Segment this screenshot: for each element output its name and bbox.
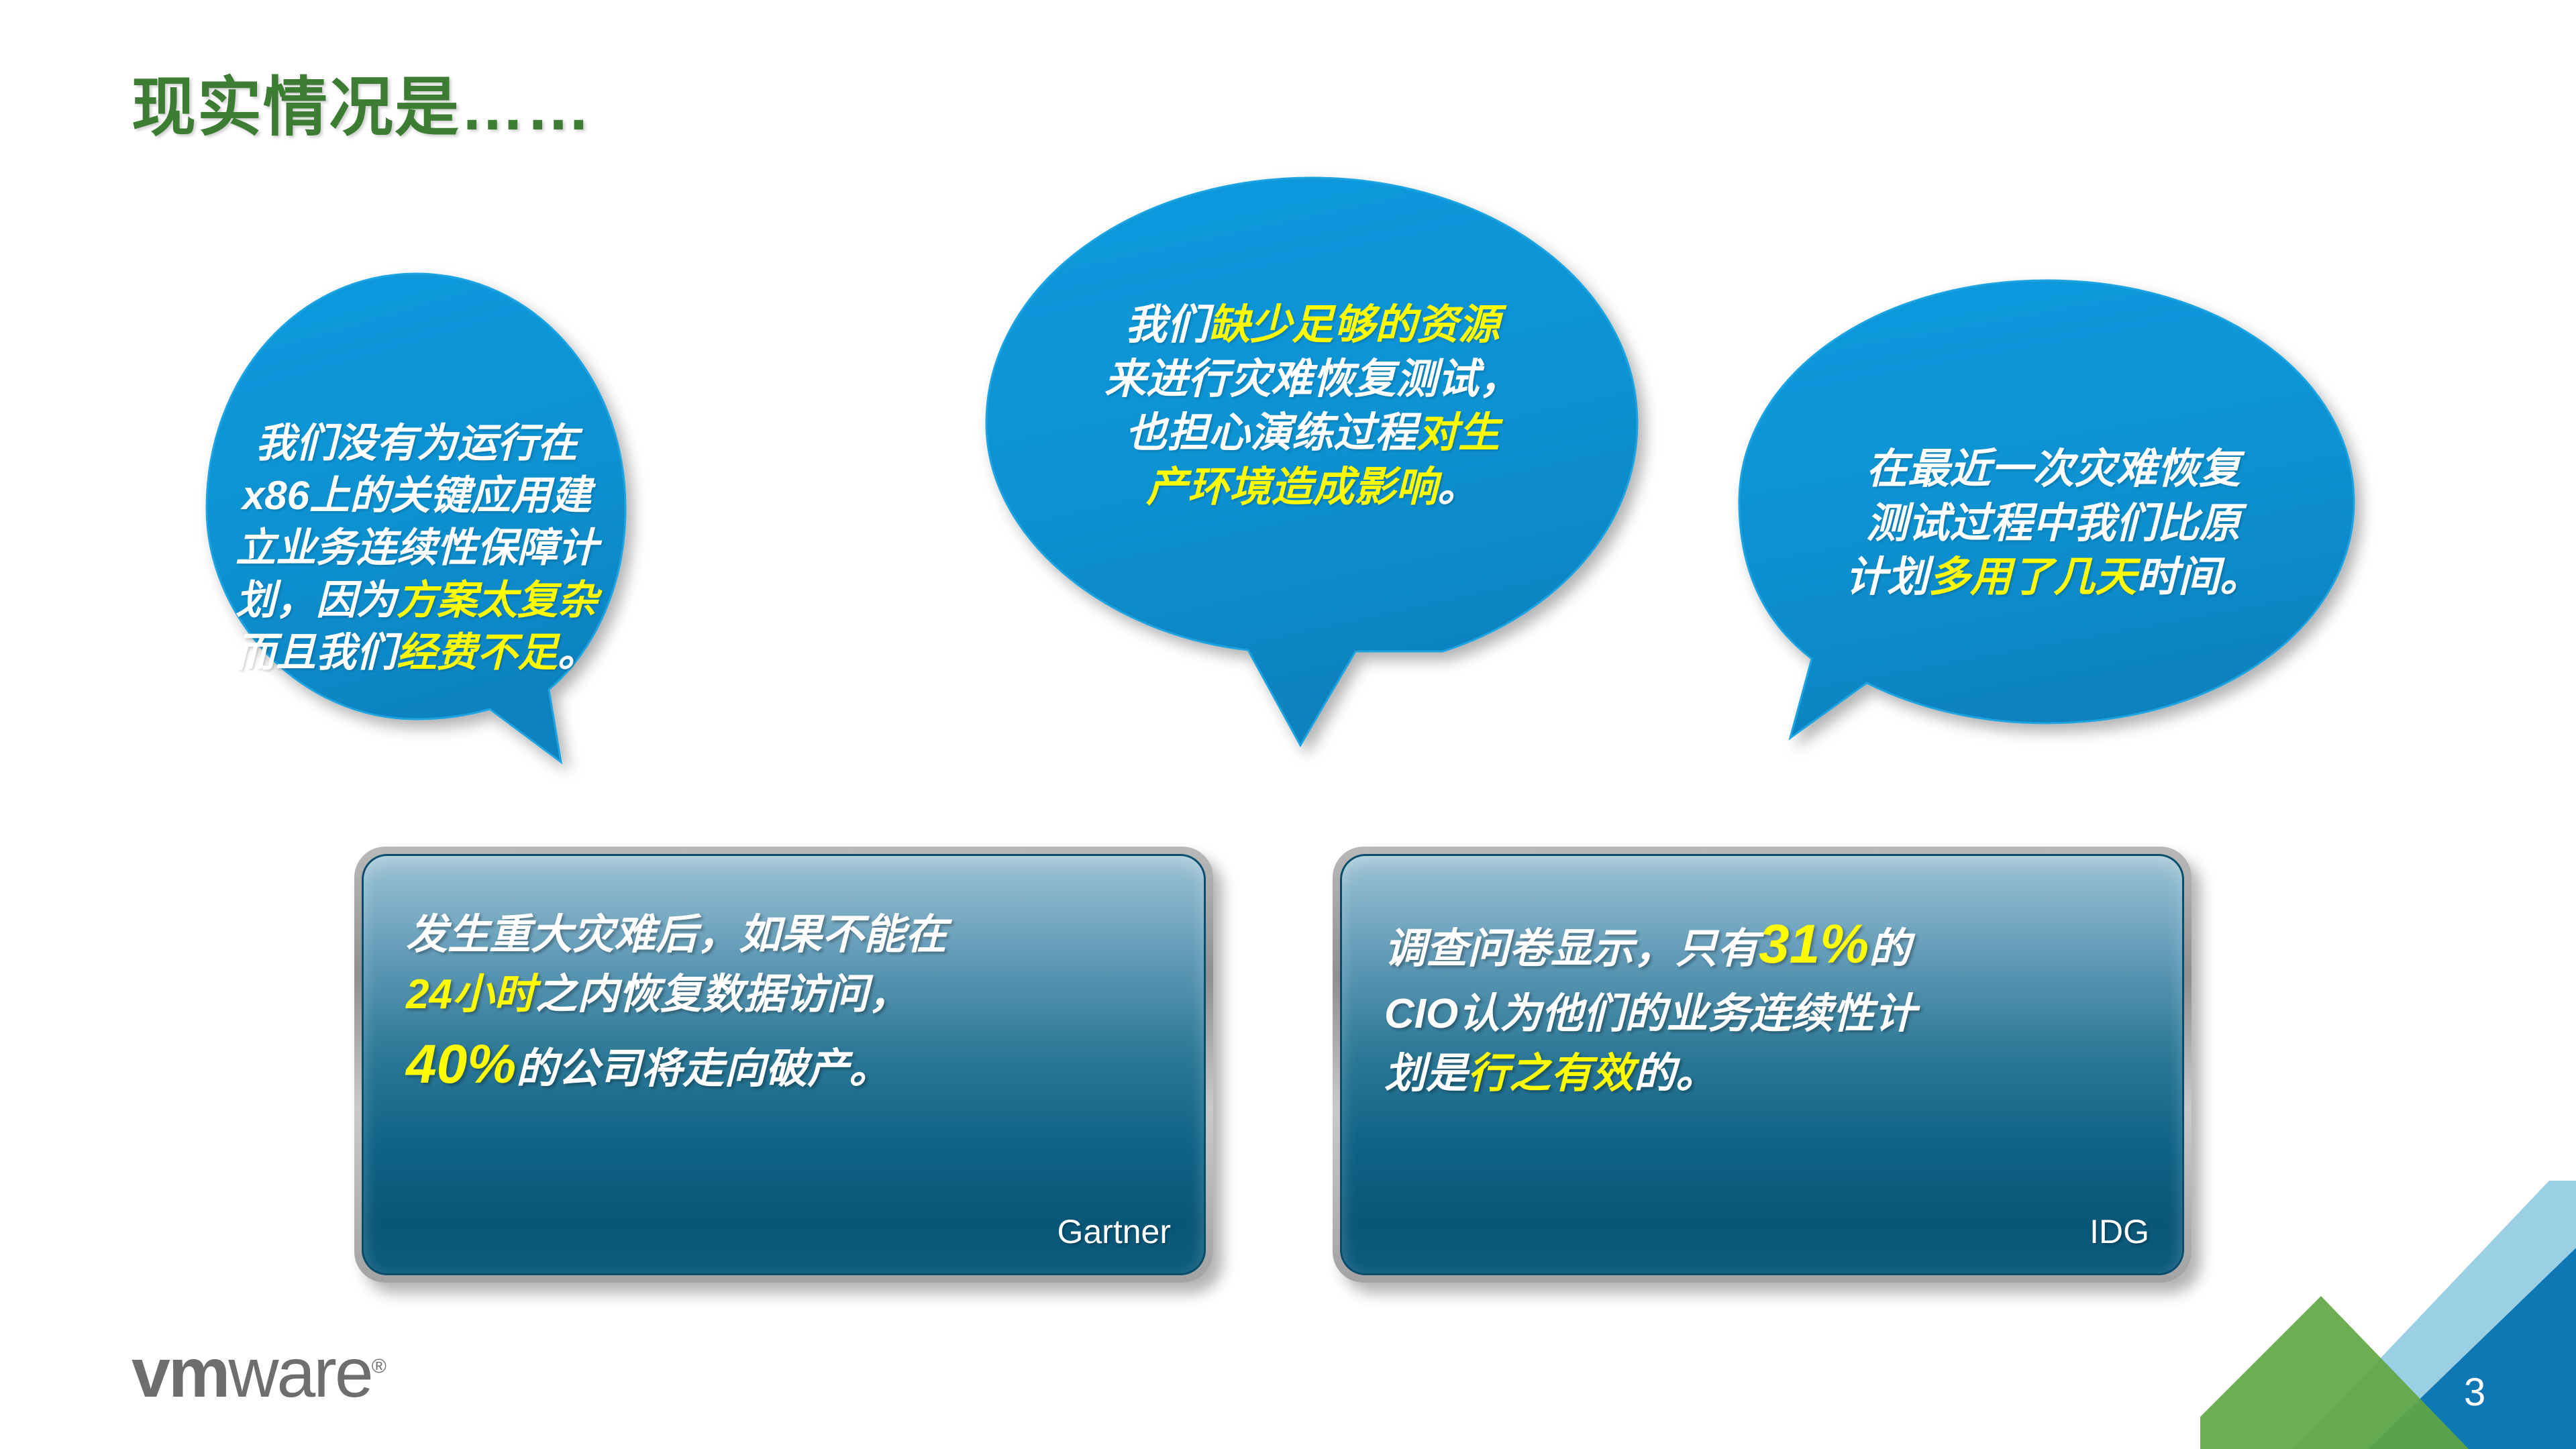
card-1-seg-1: 24小时 [406, 971, 535, 1018]
stat-card-idg: 调查问卷显示，只有31%的 CIO认为他们的业务连续性计 划是行之有效的。 ID… [1333, 847, 2192, 1283]
card-2-seg-1: 31% [1759, 914, 1869, 975]
bubble-1-seg-2: 而且我们 [236, 630, 397, 675]
card-1-seg-3: 40% [406, 1034, 516, 1095]
page-title: 现实情况是…… [132, 72, 592, 144]
bubble-1-text: 我们没有为运行在 x86上的关键应用建 立业务连续性保障计 划，因为方案太复杂 … [234, 417, 600, 679]
speech-bubble-complexity-budget: 我们没有为运行在 x86上的关键应用建 立业务连续性保障计 划，因为方案太复杂 … [201, 268, 631, 778]
bubble-3-seg-1: 多用了几天 [1928, 554, 2136, 600]
stat-card-idg-source: IDG [2090, 1212, 2149, 1251]
card-2-seg-4: 的。 [1634, 1051, 1717, 1097]
bubble-2-text: 我们缺少足够的资源 来进行灾难恢复测试， 也担心演练过程对生 产环境造成影响。 [1044, 299, 1581, 515]
bubble-3-seg-2: 时间。 [2136, 554, 2261, 600]
bubble-1-seg-3: 经费不足 [397, 630, 558, 675]
stat-card-gartner-inner: 发生重大灾难后，如果不能在 24小时之内恢复数据访问， 40%的公司将走向破产。… [362, 854, 1206, 1275]
card-1-seg-4: 的公司将走向破产。 [516, 1046, 890, 1092]
stat-card-gartner-text: 发生重大灾难后，如果不能在 24小时之内恢复数据访问， 40%的公司将走向破产。 [406, 905, 1179, 1104]
stat-card-idg-text: 调查问卷显示，只有31%的 CIO认为他们的业务连续性计 划是行之有效的。 [1384, 905, 2157, 1104]
card-1-seg-2: 之内恢复数据访问， [535, 971, 910, 1018]
stat-card-idg-inner: 调查问卷显示，只有31%的 CIO认为他们的业务连续性计 划是行之有效的。 ID… [1340, 854, 2184, 1275]
registered-trademark-icon: ® [372, 1355, 387, 1377]
corner-decoration [2200, 1181, 2576, 1449]
bubble-2-seg-4: 。 [1437, 464, 1479, 511]
bubble-2-seg-1: 缺少足够的资源 [1208, 302, 1500, 348]
page-number: 3 [2464, 1370, 2485, 1415]
bubble-1-seg-4: 。 [558, 630, 598, 675]
bubble-1-seg-1: 方案太复杂 [397, 578, 598, 623]
stat-card-gartner-source: Gartner [1057, 1212, 1171, 1251]
slide-canvas: 现实情况是…… 我们没有为运行在 x86上的关键应用建 立业务连续性保障计 划，… [0, 0, 2576, 1449]
bubble-2-seg-0: 我们 [1125, 302, 1208, 348]
vmware-logo: vmware® [132, 1338, 387, 1408]
vmware-logo-vm: vm [132, 1334, 228, 1412]
vmware-logo-ware: ware [228, 1334, 371, 1412]
speech-bubble-lack-of-resources: 我们缺少足够的资源 来进行灾难恢复测试， 也担心演练过程对生 产环境造成影响。 [980, 171, 1644, 755]
card-2-seg-3: 行之有效 [1467, 1051, 1634, 1097]
card-1-seg-0: 发生重大灾难后，如果不能在 [406, 912, 947, 958]
stat-card-gartner: 发生重大灾难后，如果不能在 24小时之内恢复数据访问， 40%的公司将走向破产。… [354, 847, 1213, 1283]
card-2-seg-0: 调查问卷显示，只有 [1384, 926, 1759, 972]
speech-bubble-test-overrun: 在最近一次灾难恢复 测试过程中我们比原 计划多用了几天时间。 [1718, 275, 2375, 758]
bubble-3-text: 在最近一次灾难恢复 测试过程中我们比原 计划多用了几天时间。 [1798, 443, 2308, 605]
